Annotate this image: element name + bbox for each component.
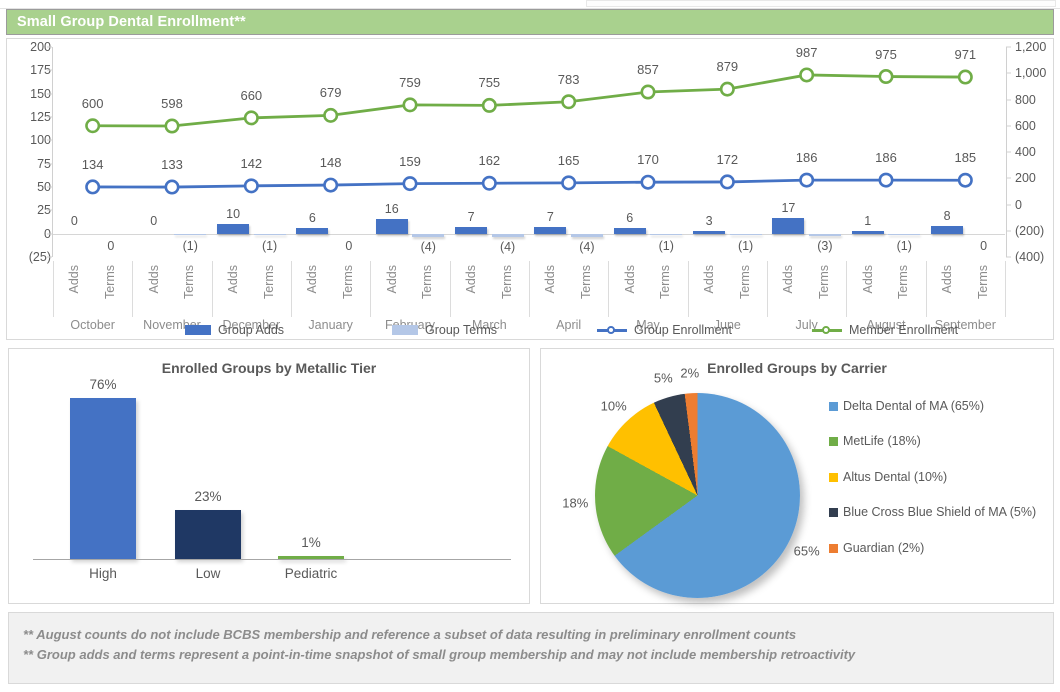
pie-slice-label: 18% [562,497,588,510]
axis-label-terms: Terms [977,265,990,299]
category-separator [450,261,451,317]
pie-legend-item[interactable]: Altus Dental (10%) [829,470,1044,484]
y-axis-right-tick: (400) [1015,251,1044,264]
legend-line-icon [597,325,627,335]
axis-label-adds: Adds [68,265,81,294]
y-axis-left-tickmark [47,70,52,71]
axis-label-terms: Terms [342,265,355,299]
enrollment-combo-chart-card: 2001751501251007550250(25) 1,2001,000800… [6,38,1054,340]
legend-swatch-icon [392,325,418,335]
pie-legend-label: Guardian (2%) [843,541,924,555]
category-separator [291,261,292,317]
axis-label-adds: Adds [941,265,954,294]
line-data-label: 759 [399,76,421,89]
category-separator [608,261,609,317]
pie-slice-label: 10% [601,400,627,413]
y-axis-right-tickmark [1006,125,1011,126]
category-separator [212,261,213,317]
y-axis-left: 2001751501251007550250(25) [9,47,51,257]
tier-category-label: Low [196,567,221,581]
axis-label-terms: Terms [501,265,514,299]
metallic-tier-baseline [33,559,511,560]
axis-label-terms: Terms [580,265,593,299]
pie-legend-label: Blue Cross Blue Shield of MA (5%) [843,505,1036,519]
axis-label-adds: Adds [862,265,875,294]
tier-bar-value-label: 76% [89,378,116,392]
carrier-pie-wrap: 65%18%10%5%2% [589,387,819,592]
y-axis-left-tickmark [47,117,52,118]
y-axis-right-tickmark [1006,257,1011,258]
tier-bar-value-label: 23% [194,490,221,504]
line-data-label: 133 [161,158,183,171]
line-data-label: 783 [558,73,580,86]
category-separator [132,261,133,317]
axis-label-adds: Adds [624,265,637,294]
line-data-label: 162 [478,154,500,167]
y-axis-left-tickmark [47,233,52,234]
line-data-label: 755 [478,76,500,89]
pie-legend-item[interactable]: MetLife (18%) [829,434,1044,448]
y-axis-right: 1,2001,0008006004002000(200)(400) [1009,47,1051,257]
page-title: Small Group Dental Enrollment** [7,14,246,30]
legend-swatch-icon [185,325,211,335]
tier-bar-value-label: 1% [301,536,321,550]
y-axis-left-tickmark [47,93,52,94]
line-data-labels: 6005986606797597557838578799879759711341… [53,47,1005,257]
legend-line-icon [812,325,842,335]
pie-legend-swatch-icon [829,508,838,517]
carrier-chart-card: Enrolled Groups by Carrier 65%18%10%5%2%… [540,348,1054,604]
y-axis-left-tickmark [47,257,52,258]
axis-label-adds: Adds [306,265,319,294]
pie-legend-item[interactable]: Blue Cross Blue Shield of MA (5%) [829,505,1044,519]
pie-slice-label: 65% [794,545,820,558]
top-strip [0,0,1060,9]
axis-label-terms: Terms [421,265,434,299]
pie-legend-swatch-icon [829,544,838,553]
axis-label-terms: Terms [818,265,831,299]
footnotes-panel: ** August counts do not include BCBS mem… [8,612,1054,684]
legend-label: Group Enrollment [634,323,732,337]
y-axis-left-tickmark [47,140,52,141]
line-data-label: 879 [716,60,738,73]
axis-label-adds: Adds [386,265,399,294]
pie-legend-label: Delta Dental of MA (65%) [843,399,984,413]
y-axis-left-tickmark [47,163,52,164]
pie-legend-swatch-icon [829,473,838,482]
line-data-label: 185 [954,151,976,164]
tier-bar [175,510,241,559]
line-data-label: 857 [637,63,659,76]
chart-legend: Group AddsGroup TermsGroup EnrollmentMem… [53,321,1005,339]
line-data-label: 142 [240,157,262,170]
line-data-label: 660 [240,89,262,102]
axis-label-terms: Terms [183,265,196,299]
axis-label-terms: Terms [104,265,117,299]
y-axis-right-tick: (200) [1015,225,1044,238]
tier-category-label: High [89,567,117,581]
y-axis-right-tick: 600 [1015,120,1036,133]
legend-label: Group Adds [218,323,284,337]
pie-legend-item[interactable]: Guardian (2%) [829,541,1044,555]
axis-label-adds: Adds [148,265,161,294]
y-axis-right-tick: 1,000 [1015,67,1046,80]
line-data-label: 172 [716,153,738,166]
category-separator [926,261,927,317]
y-axis-right-tick: 200 [1015,172,1036,185]
legend-item[interactable]: Group Enrollment [597,323,732,337]
line-data-label: 679 [320,86,342,99]
line-data-label: 148 [320,156,342,169]
category-separator [370,261,371,317]
footnote-1: ** August counts do not include BCBS mem… [23,625,1053,645]
tier-bar [70,398,136,560]
legend-label: Group Terms [425,323,497,337]
line-data-label: 170 [637,153,659,166]
axis-label-terms: Terms [739,265,752,299]
pie-legend-label: Altus Dental (10%) [843,470,947,484]
line-data-label: 159 [399,155,421,168]
category-separator [1005,261,1006,317]
category-separator [846,261,847,317]
footnote-2: ** Group adds and terms represent a poin… [23,645,1053,665]
y-axis-right-tick: 400 [1015,146,1036,159]
line-data-label: 598 [161,97,183,110]
carrier-legend: Delta Dental of MA (65%)MetLife (18%)Alt… [829,399,1044,576]
line-data-label: 975 [875,48,897,61]
pie-slice-label: 5% [654,371,673,384]
line-data-label: 186 [875,151,897,164]
legend-item[interactable]: Group Terms [392,323,497,337]
y-axis-right-tick: 1,200 [1015,41,1046,54]
y-axis-right-tick: 0 [1015,198,1022,211]
legend-label: Member Enrollment [849,323,958,337]
y-axis-right-tickmark [1006,230,1011,231]
axis-label-terms: Terms [897,265,910,299]
y-axis-right-tickmark [1006,73,1011,74]
metallic-tier-plot: 76%23%1% [33,389,503,559]
y-axis-left-tickmark [47,47,52,48]
category-separator [529,261,530,317]
metallic-tier-chart-card: Enrolled Groups by Metallic Tier 76%23%1… [8,348,530,604]
carrier-pie [595,393,800,598]
axis-label-adds: Adds [227,265,240,294]
line-data-label: 600 [82,97,104,110]
pie-legend-swatch-icon [829,437,838,446]
pie-legend-swatch-icon [829,402,838,411]
y-axis-right-tickmark [1006,204,1011,205]
line-data-label: 134 [82,158,104,171]
pie-legend-item[interactable]: Delta Dental of MA (65%) [829,399,1044,413]
category-separator [688,261,689,317]
y-axis-right-tickmark [1006,178,1011,179]
pie-legend-label: MetLife (18%) [843,434,921,448]
category-separator [767,261,768,317]
metallic-tier-title: Enrolled Groups by Metallic Tier [9,360,529,376]
axis-label-adds: Adds [703,265,716,294]
y-axis-right-tickmark [1006,47,1011,48]
axis-label-terms: Terms [659,265,672,299]
legend-item[interactable]: Member Enrollment [812,323,958,337]
line-data-label: 987 [796,46,818,59]
top-strip-panel [586,0,1056,7]
y-axis-left-tickmark [47,210,52,211]
axis-label-adds: Adds [465,265,478,294]
pie-slice-label: 2% [680,367,699,380]
line-data-label: 971 [954,48,976,61]
category-separator [53,261,54,317]
dashboard-title-banner: Small Group Dental Enrollment** [6,9,1054,35]
line-data-label: 186 [796,151,818,164]
y-axis-left-tickmark [47,187,52,188]
axis-label-adds: Adds [544,265,557,294]
carrier-title: Enrolled Groups by Carrier [541,360,1053,376]
dashboard-page: Small Group Dental Enrollment** 20017515… [0,0,1060,692]
axis-label-adds: Adds [782,265,795,294]
axis-label-terms: Terms [263,265,276,299]
legend-item[interactable]: Group Adds [185,323,284,337]
y-axis-right-tick: 800 [1015,93,1036,106]
y-axis-right-tickmark [1006,99,1011,100]
y-axis-right-tickmark [1006,152,1011,153]
tier-category-label: Pediatric [285,567,338,581]
line-data-label: 165 [558,154,580,167]
